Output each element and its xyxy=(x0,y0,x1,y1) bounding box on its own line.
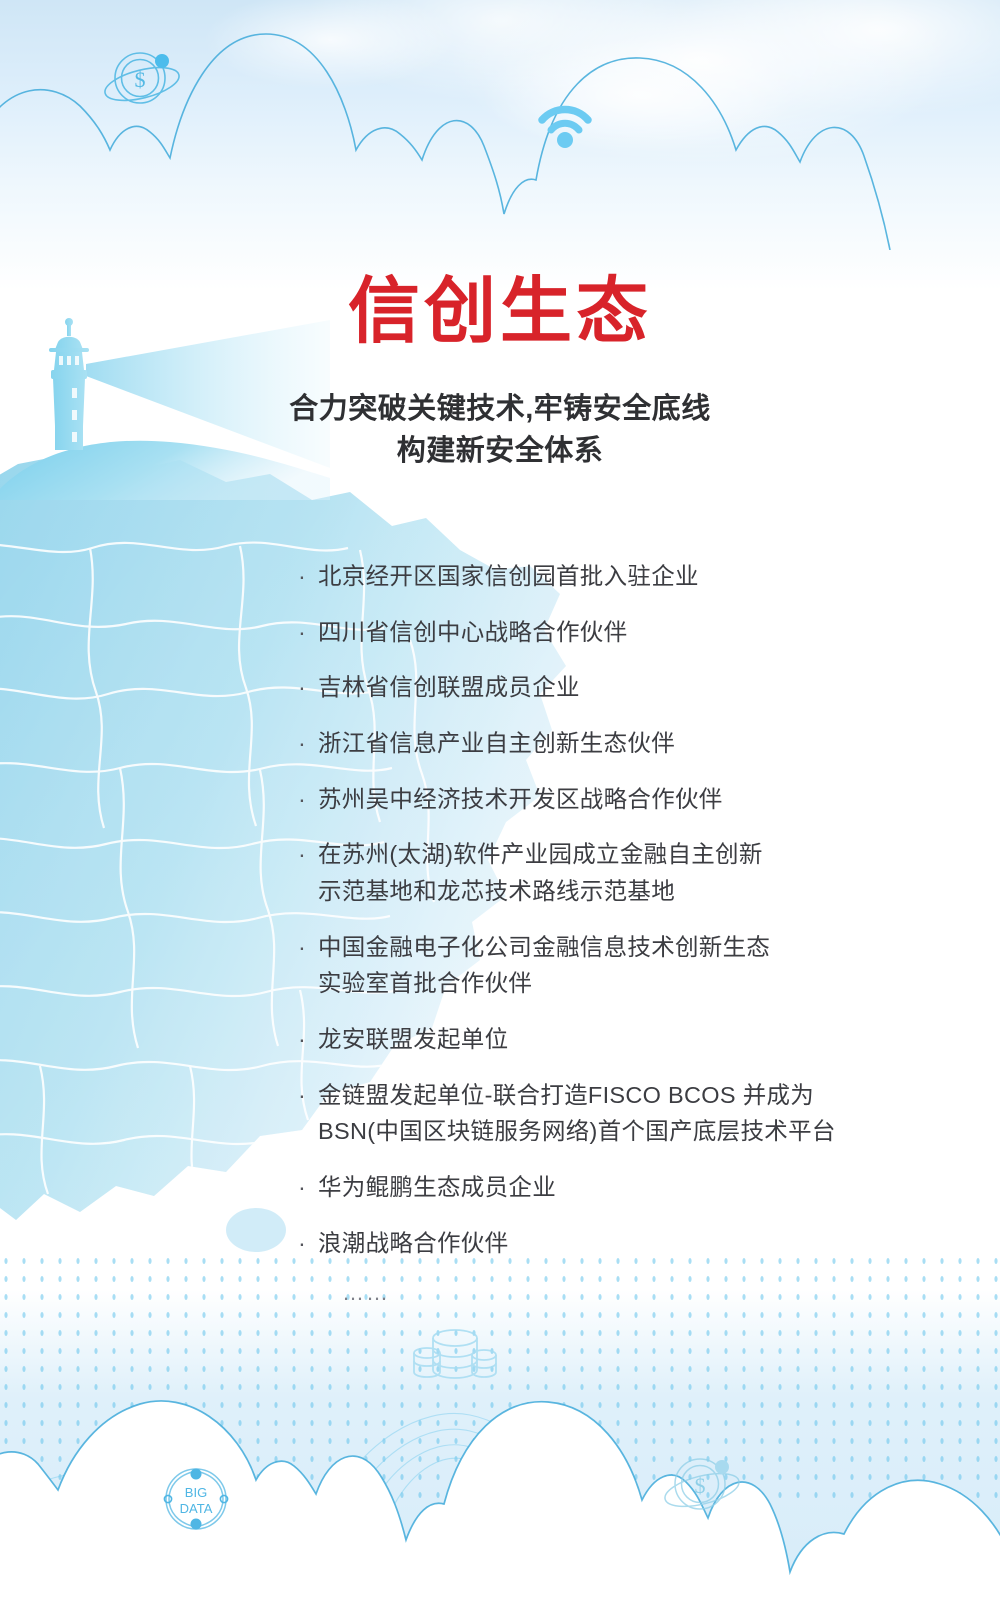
list-ellipsis: …… xyxy=(296,1280,936,1306)
list-item: ·金链盟发起单位-联合打造FISCO BCOS 并成为BSN(中国区块链服务网络… xyxy=(296,1077,936,1150)
list-item: ·龙安联盟发起单位 xyxy=(296,1021,936,1058)
list-item: ·苏州吴中经济技术开发区战略合作伙伴 xyxy=(296,781,936,818)
list-item-text: 四川省信创中心战略合作伙伴 xyxy=(318,614,936,651)
page-title: 信创生态 xyxy=(220,276,780,348)
bullet-marker-icon: · xyxy=(298,781,306,818)
list-item-text: 北京经开区国家信创园首批入驻企业 xyxy=(318,558,936,595)
list-item-text: 金链盟发起单位-联合打造FISCO BCOS 并成为 xyxy=(318,1077,936,1114)
list-item-text: 苏州吴中经济技术开发区战略合作伙伴 xyxy=(318,781,936,818)
bullet-marker-icon: · xyxy=(298,1077,306,1114)
list-item: ·四川省信创中心战略合作伙伴 xyxy=(296,614,936,651)
bullet-marker-icon: · xyxy=(298,929,306,966)
bullet-marker-icon: · xyxy=(298,1021,306,1058)
page-subtitle: 合力突破关键技术,牢铸安全底线 构建新安全体系 xyxy=(180,388,820,472)
poster-root: $ xyxy=(0,0,1000,1598)
list-item: ·浙江省信息产业自主创新生态伙伴 xyxy=(296,725,936,762)
subtitle-line-1: 合力突破关键技术,牢铸安全底线 xyxy=(289,393,711,425)
list-item: ·浪潮战略合作伙伴 xyxy=(296,1225,936,1262)
bullet-marker-icon: · xyxy=(298,1225,306,1262)
list-item-text: 实验室首批合作伙伴 xyxy=(318,965,936,1002)
list-item-text: 吉林省信创联盟成员企业 xyxy=(318,669,936,706)
list-item-text: 龙安联盟发起单位 xyxy=(318,1021,936,1058)
list-item: ·华为鲲鹏生态成员企业 xyxy=(296,1169,936,1206)
bullet-marker-icon: · xyxy=(298,1169,306,1206)
list-item: ·北京经开区国家信创园首批入驻企业 xyxy=(296,558,936,595)
list-item-text: 浪潮战略合作伙伴 xyxy=(318,1225,936,1262)
list-item-text: 中国金融电子化公司金融信息技术创新生态 xyxy=(318,929,936,966)
list-item-text: BSN(中国区块链服务网络)首个国产底层技术平台 xyxy=(318,1113,936,1150)
list-item: ·吉林省信创联盟成员企业 xyxy=(296,669,936,706)
bullet-marker-icon: · xyxy=(298,669,306,706)
subtitle-line-2: 构建新安全体系 xyxy=(180,430,820,472)
poster-content: 信创生态 合力突破关键技术,牢铸安全底线 构建新安全体系 ·北京经开区国家信创园… xyxy=(0,0,1000,1598)
bullet-marker-icon: · xyxy=(298,836,306,873)
list-item-text: 浙江省信息产业自主创新生态伙伴 xyxy=(318,725,936,762)
list-item: ·在苏州(太湖)软件产业园成立金融自主创新示范基地和龙芯技术路线示范基地 xyxy=(296,836,936,909)
bullet-marker-icon: · xyxy=(298,614,306,651)
list-item-text: 华为鲲鹏生态成员企业 xyxy=(318,1169,936,1206)
bullet-marker-icon: · xyxy=(298,725,306,762)
list-item: ·中国金融电子化公司金融信息技术创新生态实验室首批合作伙伴 xyxy=(296,929,936,1002)
achievement-list: ·北京经开区国家信创园首批入驻企业·四川省信创中心战略合作伙伴·吉林省信创联盟成… xyxy=(296,558,936,1306)
list-item-text: 示范基地和龙芯技术路线示范基地 xyxy=(318,873,936,910)
list-item-text: 在苏州(太湖)软件产业园成立金融自主创新 xyxy=(318,836,936,873)
bullet-marker-icon: · xyxy=(298,558,306,595)
